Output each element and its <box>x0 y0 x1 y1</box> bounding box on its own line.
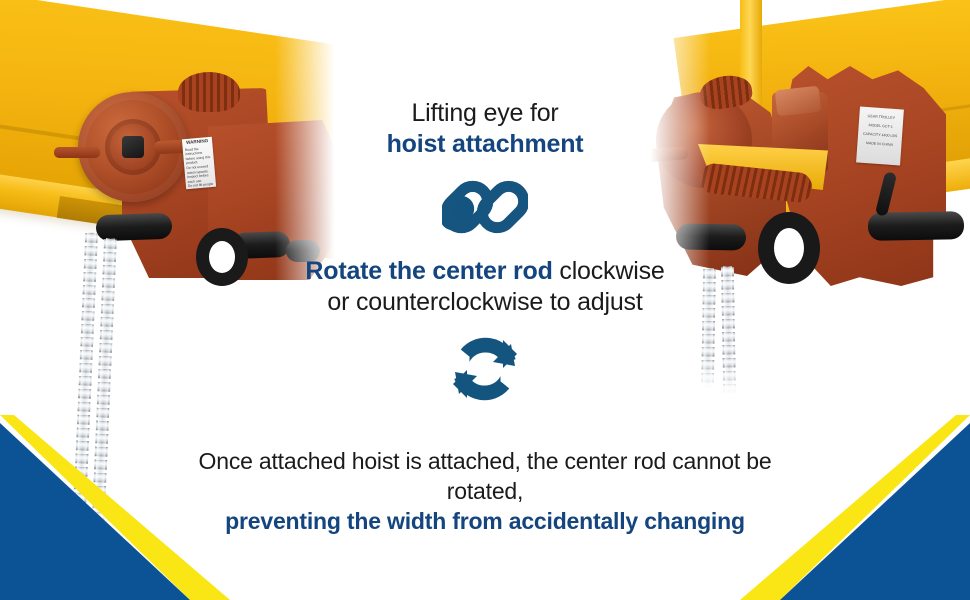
bottom-note: Once attached hoist is attached, the cen… <box>195 446 775 536</box>
wheel-hub-bolt-left <box>122 136 144 158</box>
beam-clamp-top-right <box>775 86 821 116</box>
callout-rotate-rod: Rotate the center rod clockwise or count… <box>195 256 775 318</box>
callout-2-bold: Rotate the center rod <box>305 257 552 285</box>
callout-2-line-2: or counterclockwise to adjust <box>195 287 775 318</box>
center-rod-stub-left <box>54 147 100 158</box>
callout-2-plain: clockwise <box>553 257 665 285</box>
bottom-note-line-2: preventing the width from accidentally c… <box>195 506 775 536</box>
callout-1-line-1: Lifting eye for <box>195 98 775 129</box>
rotate-sync-icon <box>445 332 525 406</box>
callout-1-line-2: hoist attachment <box>195 129 775 160</box>
data-plate-right: GEAR TROLLEY MODEL GCT-1 CAPACITY 4400 L… <box>856 107 904 166</box>
chain-link-icon-wrap <box>195 174 775 240</box>
chain-link-icon <box>442 174 528 240</box>
data-plate-line-2: MODEL GCT-1 <box>868 123 892 129</box>
callout-column: Lifting eye for hoist attachment Rotate … <box>195 98 775 422</box>
data-plate-line-1: GEAR TROLLEY <box>867 114 895 120</box>
infographic-root: WARNING Read the instructions before usi… <box>0 0 970 600</box>
rotate-sync-icon-wrap <box>195 332 775 406</box>
bottom-note-line-1: Once attached hoist is attached, the cen… <box>195 446 775 506</box>
callout-lifting-eye: Lifting eye for hoist attachment <box>195 98 775 160</box>
data-plate-line-4: MADE IN CHINA <box>866 141 893 147</box>
callout-2-line-1: Rotate the center rod clockwise <box>195 256 775 287</box>
data-plate-line-3: CAPACITY 4400 LBS <box>863 132 898 138</box>
